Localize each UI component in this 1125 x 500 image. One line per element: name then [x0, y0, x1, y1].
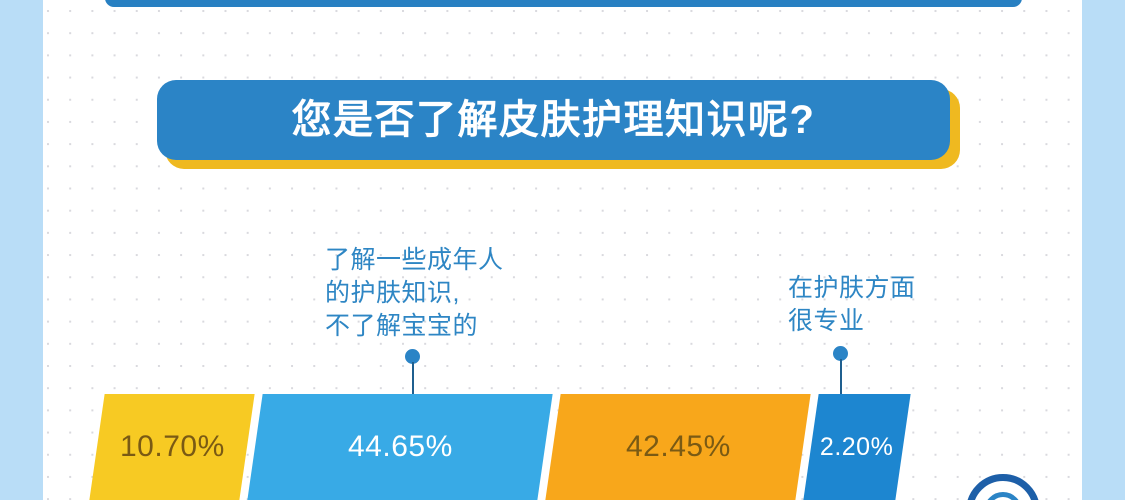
title-banner-pill: 您是否了解皮肤护理知识呢?: [157, 80, 950, 160]
bar-segment-value: 10.70%: [120, 432, 225, 462]
page-title: 您是否了解皮肤护理知识呢?: [292, 100, 816, 140]
bar-segment-value: 44.65%: [348, 432, 453, 462]
callout-label-left: 了解一些成年人 的护肤知识, 不了解宝宝的: [325, 244, 504, 343]
bar-segment: 2.20%: [803, 394, 910, 500]
callout-label-right: 在护肤方面 很专业: [788, 272, 916, 338]
bar-segment-value: 2.20%: [820, 435, 893, 460]
infographic-page: 您是否了解皮肤护理知识呢? 了解一些成年人 的护肤知识, 不了解宝宝的 在护肤方…: [0, 0, 1125, 500]
bar-segment: 42.45%: [545, 394, 810, 500]
bar-segment-value: 42.45%: [626, 432, 731, 462]
top-accent-bar: [105, 0, 1022, 7]
title-banner: 您是否了解皮肤护理知识呢?: [157, 80, 952, 168]
bar-segment: 10.70%: [89, 394, 254, 500]
stacked-bar-chart: 10.70% 44.65% 42.45% 2.20%: [0, 394, 1125, 500]
bar-segment: 44.65%: [247, 394, 552, 500]
